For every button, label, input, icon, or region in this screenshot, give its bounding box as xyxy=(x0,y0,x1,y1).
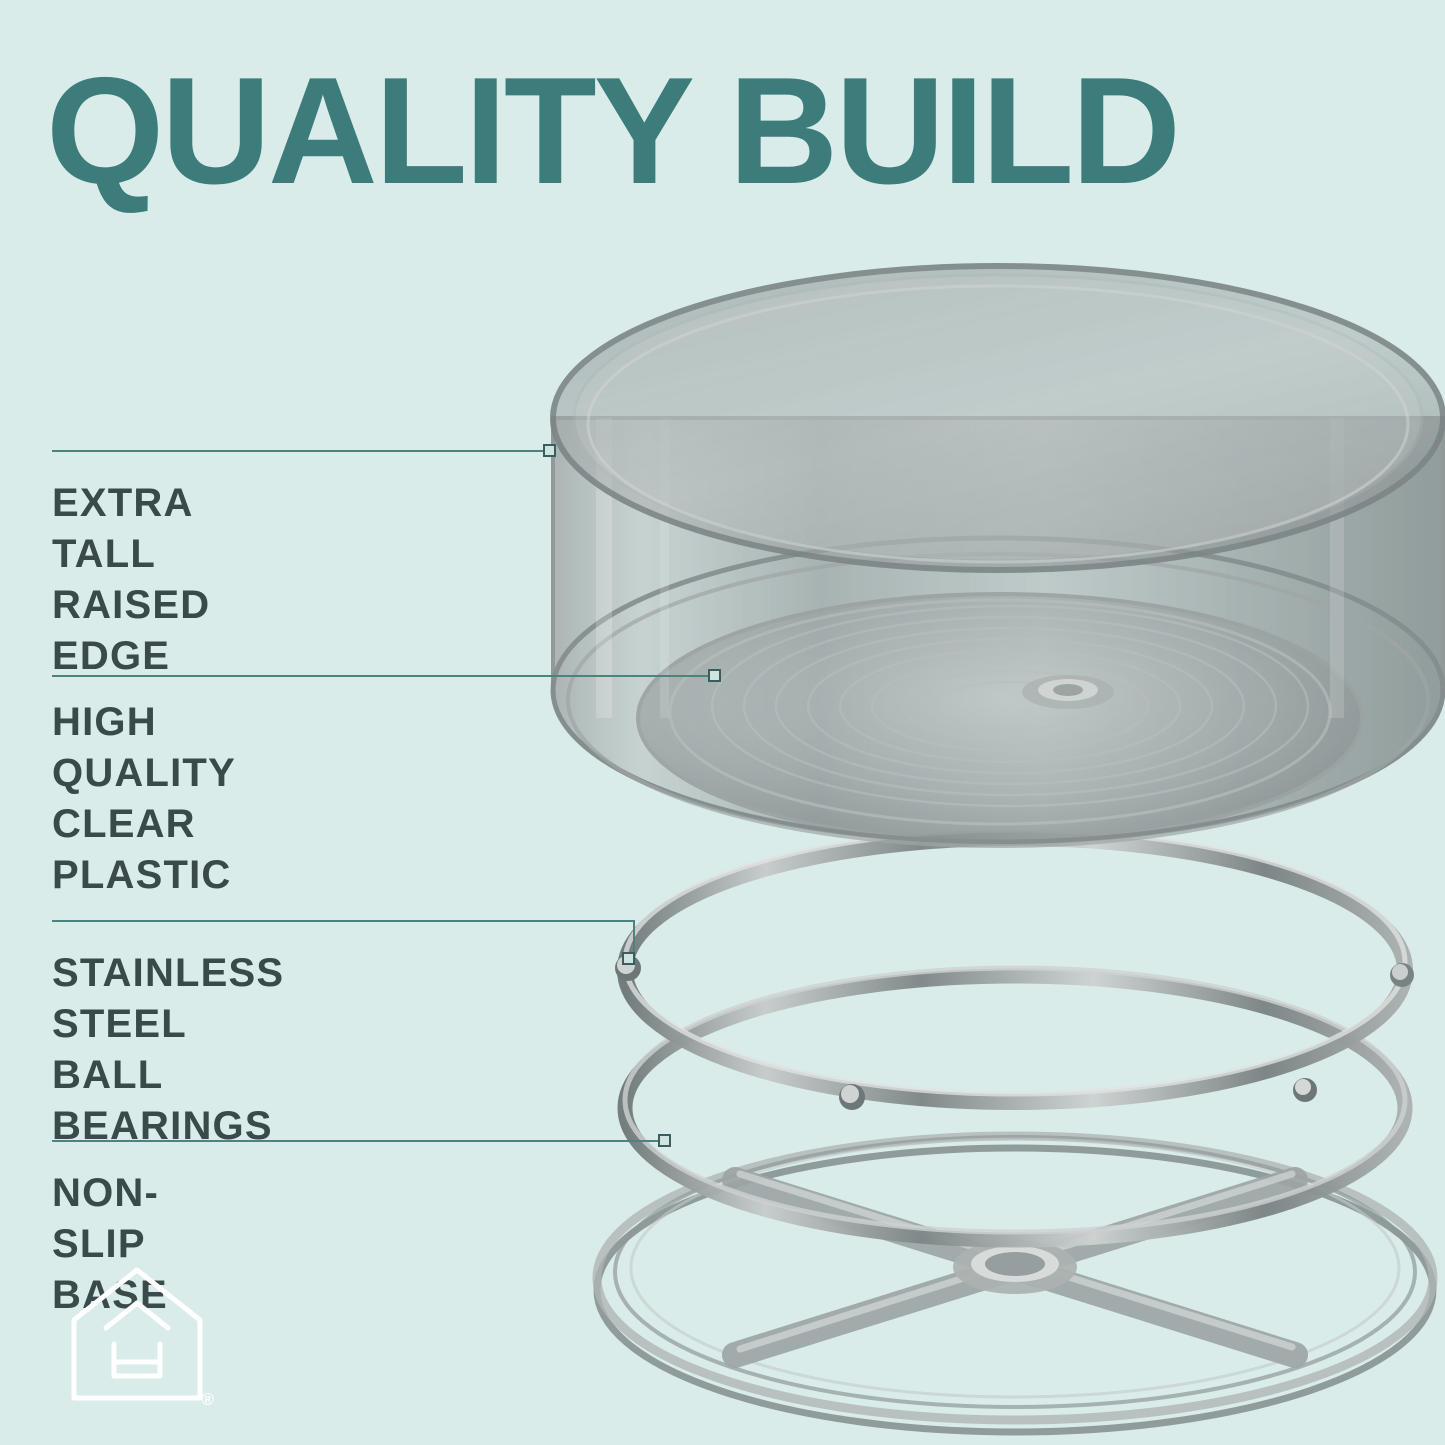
ball-bearings xyxy=(615,955,1414,1110)
house-outline-icon xyxy=(62,1258,212,1418)
leader-endpoint-2 xyxy=(708,669,721,682)
leader-endpoint-4 xyxy=(658,1134,671,1147)
infographic-canvas: QUALITY BUILD EXTRA TALL RAISED EDGE HIG… xyxy=(0,0,1445,1445)
leader-line-1 xyxy=(52,450,545,452)
callout-label-3: STAINLESS STEEL BALL BEARINGS xyxy=(52,948,284,1152)
page-title: QUALITY BUILD xyxy=(46,56,1406,206)
callout-label-2: HIGH QUALITY CLEAR PLASTIC xyxy=(52,697,236,901)
brand-logo: ® xyxy=(62,1258,212,1418)
leader-line-3 xyxy=(52,920,633,922)
leader-line-2 xyxy=(52,675,712,677)
product-part-ball-bearing-ring xyxy=(615,830,1414,1240)
leader-endpoint-1 xyxy=(543,444,556,457)
product-part-clear-bin xyxy=(553,266,1443,846)
callout-label-1: EXTRA TALL RAISED EDGE xyxy=(52,478,210,682)
registered-mark: ® xyxy=(201,1390,214,1410)
leader-endpoint-3 xyxy=(622,952,635,965)
leader-line-4 xyxy=(52,1140,668,1142)
product-part-non-slip-base xyxy=(597,1136,1433,1432)
